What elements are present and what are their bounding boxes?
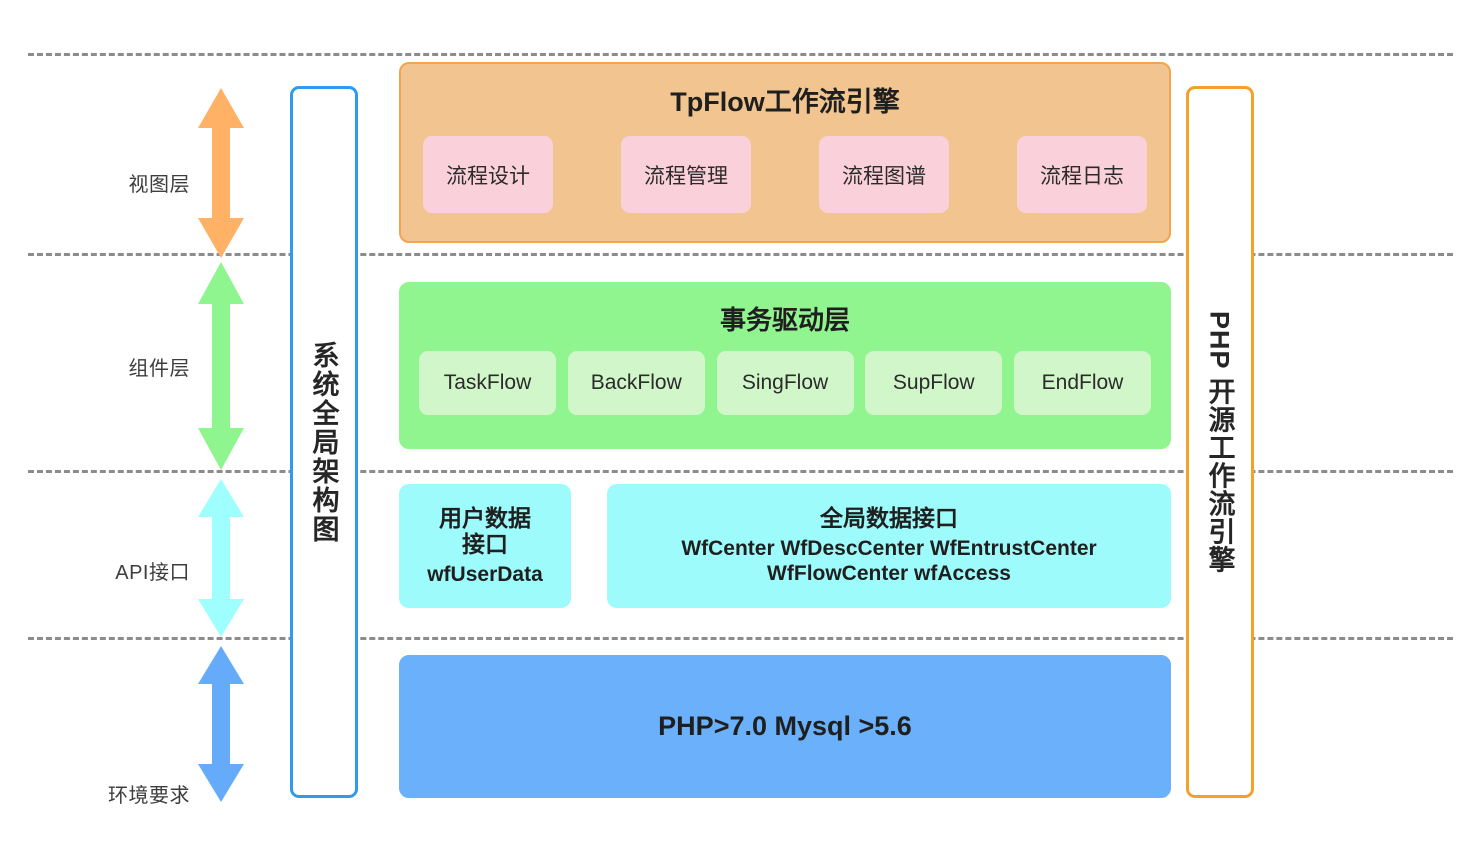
system-architecture-label-text: 系统全局架构图 [305, 341, 344, 544]
panel-environment-text: PHP>7.0 Mysql >5.6 [401, 657, 1169, 796]
layer-divider-top [28, 53, 1453, 56]
php-workflow-engine-label-text: PHP 开源工作流引擎 [1201, 311, 1240, 574]
card-user-data-api-title-line2: 接口 [462, 531, 508, 558]
panel-view-chip-row: 流程设计 流程管理 流程图谱 流程日志 [401, 136, 1169, 213]
panel-environment-layer: PHP>7.0 Mysql >5.6 [399, 655, 1171, 798]
layer-label-api: API接口 [60, 556, 190, 585]
panel-component-chip-row: TaskFlow BackFlow SingFlow SupFlow EndFl… [401, 351, 1169, 415]
architecture-diagram: 视图层 组件层 API接口 环境要求 系统全局架构图 PHP 开源工作流引擎 T… [0, 0, 1471, 859]
layer-label-component: 组件层 [60, 352, 190, 381]
chip-flow-management[interactable]: 流程管理 [621, 136, 751, 213]
double-arrow-component-icon [198, 262, 244, 470]
chip-backflow[interactable]: BackFlow [568, 351, 705, 415]
chip-taskflow[interactable]: TaskFlow [419, 351, 556, 415]
double-arrow-api-icon [198, 479, 244, 637]
php-workflow-engine-label-box: PHP 开源工作流引擎 [1186, 86, 1254, 798]
card-user-data-api-code: wfUserData [427, 562, 543, 587]
panel-view-layer: TpFlow工作流引擎 流程设计 流程管理 流程图谱 流程日志 [399, 62, 1171, 243]
double-arrow-view-icon [198, 88, 244, 258]
chip-endflow[interactable]: EndFlow [1014, 351, 1151, 415]
card-global-data-api-code: WfCenter WfDescCenter WfEntrustCenter Wf… [619, 536, 1159, 586]
double-arrow-env-icon [198, 646, 244, 802]
layer-label-view: 视图层 [60, 168, 190, 197]
panel-component-layer: 事务驱动层 TaskFlow BackFlow SingFlow SupFlow… [399, 282, 1171, 449]
panel-component-title: 事务驱动层 [401, 300, 1169, 337]
card-user-data-api[interactable]: 用户数据 接口 wfUserData [399, 484, 571, 608]
chip-supflow[interactable]: SupFlow [865, 351, 1002, 415]
layer-label-env: 环境要求 [60, 779, 190, 808]
chip-flow-design[interactable]: 流程设计 [423, 136, 553, 213]
chip-flow-log[interactable]: 流程日志 [1017, 136, 1147, 213]
card-user-data-api-title-line1: 用户数据 [439, 505, 531, 532]
chip-singflow[interactable]: SingFlow [717, 351, 854, 415]
chip-flow-graph[interactable]: 流程图谱 [819, 136, 949, 213]
panel-view-title: TpFlow工作流引擎 [401, 80, 1169, 119]
system-architecture-label-box: 系统全局架构图 [290, 86, 358, 798]
card-global-data-api-title: 全局数据接口 [820, 505, 958, 532]
card-global-data-api[interactable]: 全局数据接口 WfCenter WfDescCenter WfEntrustCe… [607, 484, 1171, 608]
